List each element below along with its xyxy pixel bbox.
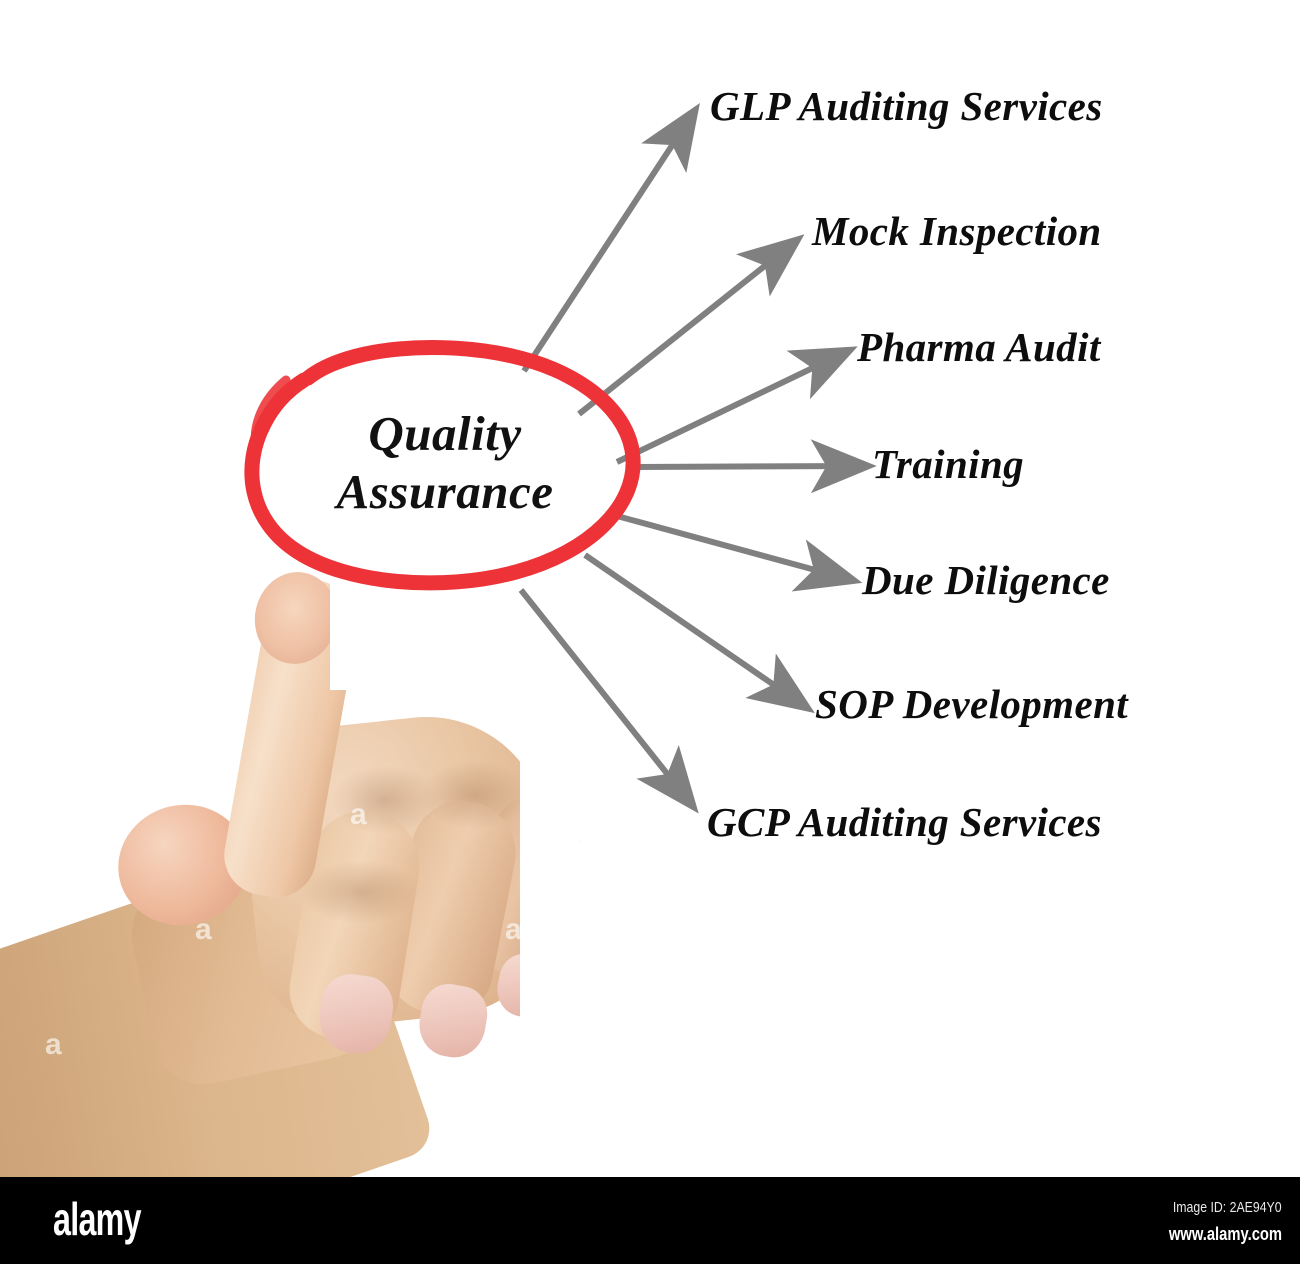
arrow-gcp-auditing-services	[521, 590, 692, 805]
branch-label-pharma-audit: Pharma Audit	[857, 323, 1101, 371]
alamy-logo: alamy	[53, 1196, 141, 1242]
branch-label-mock-inspection: Mock Inspection	[812, 207, 1102, 255]
arrow-training	[628, 466, 866, 467]
branch-label-sop-development: SOP Development	[815, 680, 1128, 728]
branch-label-training: Training	[872, 440, 1024, 488]
center-node-line2: Assurance	[270, 463, 620, 521]
image-id-text: Image ID: 2AE94Y0	[1173, 1199, 1282, 1216]
branch-label-due-diligence: Due Diligence	[862, 556, 1110, 604]
center-node-line1: Quality	[368, 406, 521, 461]
alamy-url-text[interactable]: www.alamy.com	[1169, 1224, 1282, 1245]
center-node-label: Quality Assurance	[270, 405, 620, 521]
alamy-footer-bar	[0, 1177, 1300, 1264]
connector-arrows	[0, 0, 1300, 1264]
branch-label-glp-auditing-services: GLP Auditing Services	[710, 82, 1103, 130]
diagram-canvas: a a a a Quality Assurance GLP Auditing	[0, 0, 1300, 1264]
branch-label-gcp-auditing-services: GCP Auditing Services	[707, 798, 1102, 846]
